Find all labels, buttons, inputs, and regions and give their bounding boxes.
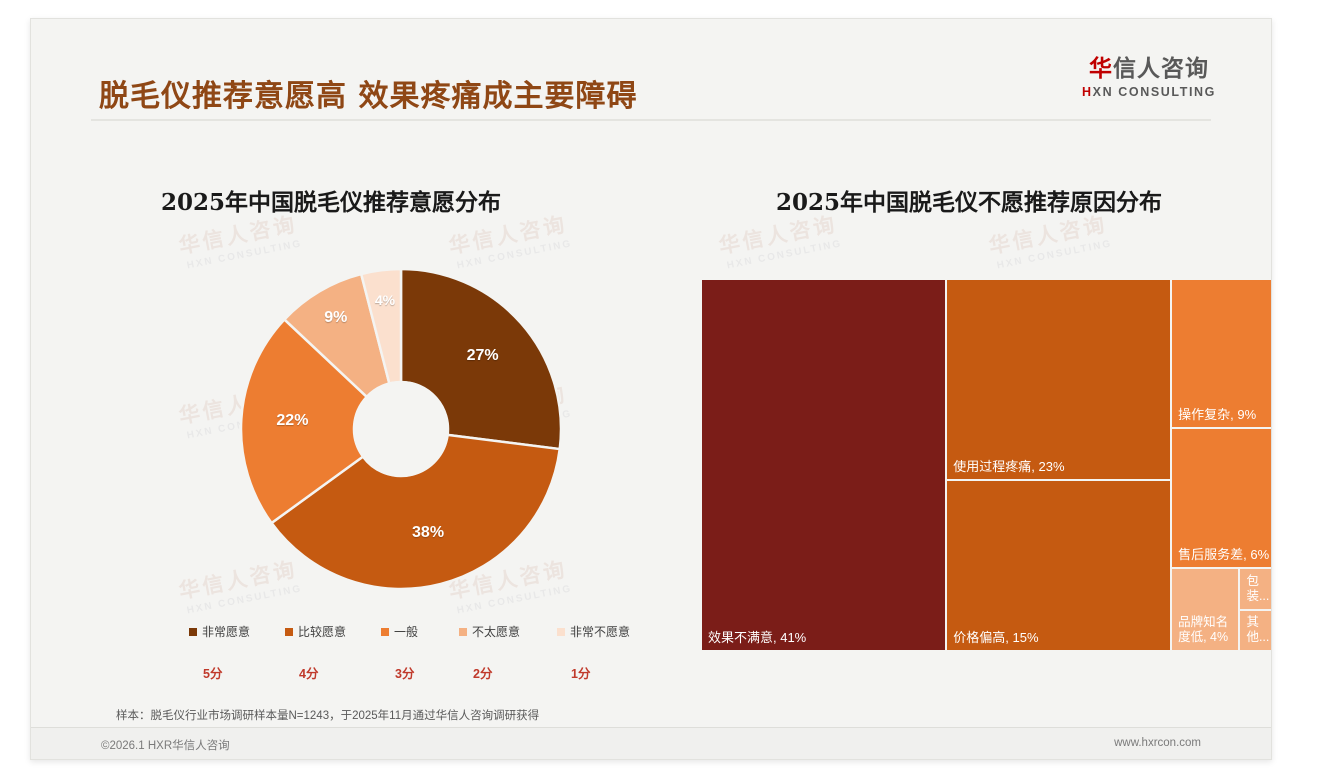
legend-item[interactable]: 一般 — [381, 623, 418, 640]
treemap-tile-label: 包装... — [1246, 574, 1272, 605]
slide-canvas: 华信人咨询 HXN CONSULTING 华信人咨询 HXN CONSULTIN… — [30, 18, 1272, 760]
treemap-tile[interactable]: 价格偏高, 15% — [946, 480, 1171, 651]
sample-footnote: 样本：脱毛仪行业市场调研样本量N=1243，于2025年11月通过华信人咨询调研… — [116, 707, 539, 723]
legend-swatch-icon — [459, 628, 467, 636]
legend-swatch-icon — [285, 628, 293, 636]
donut-legend: 非常愿意比较愿意一般不太愿意非常不愿意 — [189, 623, 629, 643]
slide-footer: ©2026.1 HXR华信人咨询 www.hxrcon.com — [31, 728, 1271, 759]
donut-hole — [353, 381, 449, 477]
treemap-tile[interactable]: 品牌知名度低, 4% — [1171, 568, 1239, 651]
watermark-en: HXN CONSULTING — [726, 238, 843, 271]
treemap-tile-label: 效果不满意, 41% — [708, 630, 806, 646]
logo-hua-char: 华 — [1089, 56, 1113, 82]
footer-website: www.hxrcon.com — [1114, 737, 1201, 749]
logo-en-rest: XN CONSULTING — [1093, 85, 1216, 99]
treemap-tile-label: 品牌知名度低, 4% — [1178, 615, 1234, 646]
legend-swatch-icon — [381, 628, 389, 636]
legend-label: 一般 — [394, 623, 418, 640]
treemap-tile[interactable]: 使用过程疼痛, 23% — [946, 279, 1171, 480]
legend-score: 3分 — [395, 663, 414, 682]
logo-cn-rest: 信人咨询 — [1113, 56, 1209, 82]
footer-copyright: ©2026.1 HXR华信人咨询 — [101, 737, 230, 753]
treemap-tile-label: 使用过程疼痛, 23% — [953, 459, 1064, 475]
legend-score: 5分 — [203, 663, 222, 682]
legend-score: 2分 — [473, 663, 492, 682]
legend-item[interactable]: 非常愿意 — [189, 623, 250, 640]
legend-score: 1分 — [571, 663, 590, 682]
treemap-tile-label: 操作复杂, 9% — [1178, 407, 1256, 423]
logo-english: HXN CONSULTING — [1082, 85, 1216, 99]
treemap-tile-label: 其他... — [1246, 615, 1272, 646]
legend-label: 不太愿意 — [472, 623, 520, 640]
legend-swatch-icon — [557, 628, 565, 636]
left-chart-title: 2025年中国脱毛仪推荐意愿分布 — [161, 183, 501, 217]
treemap-chart: 效果不满意, 41%使用过程疼痛, 23%价格偏高, 15%操作复杂, 9%售后… — [701, 279, 1272, 651]
treemap-tile[interactable]: 售后服务差, 6% — [1171, 428, 1272, 569]
watermark-en: HXN CONSULTING — [996, 238, 1113, 271]
watermark: 华信人咨询 HXN CONSULTING — [716, 208, 843, 272]
slide-header: 脱毛仪推荐意愿高 效果疼痛成主要障碍 华信人咨询 HXN CONSULTING — [31, 19, 1271, 119]
watermark: 华信人咨询 HXN CONSULTING — [446, 208, 573, 272]
treemap-tile-label: 售后服务差, 6% — [1178, 547, 1269, 563]
legend-item[interactable]: 非常不愿意 — [557, 623, 630, 640]
donut-chart: 27%38%22%9%4% — [236, 264, 566, 594]
legend-item[interactable]: 不太愿意 — [459, 623, 520, 640]
header-divider — [91, 119, 1211, 121]
legend-swatch-icon — [189, 628, 197, 636]
donut-score-row: 5分4分3分2分1分 — [189, 663, 629, 681]
treemap-tile[interactable]: 其他... — [1239, 610, 1272, 651]
legend-label: 非常愿意 — [202, 623, 250, 640]
company-logo: 华信人咨询 HXN CONSULTING — [1082, 57, 1216, 99]
watermark: 华信人咨询 HXN CONSULTING — [986, 208, 1113, 272]
legend-item[interactable]: 比较愿意 — [285, 623, 346, 640]
right-chart-title: 2025年中国脱毛仪不愿推荐原因分布 — [776, 183, 1162, 217]
page-title: 脱毛仪推荐意愿高 效果疼痛成主要障碍 — [99, 71, 637, 115]
treemap-tile-label: 价格偏高, 15% — [953, 630, 1038, 646]
treemap-tile[interactable]: 效果不满意, 41% — [701, 279, 946, 651]
logo-h-char: H — [1082, 85, 1093, 99]
donut-chart-svg — [236, 264, 566, 594]
legend-score: 4分 — [299, 663, 318, 682]
legend-label: 比较愿意 — [298, 623, 346, 640]
legend-label: 非常不愿意 — [570, 623, 630, 640]
treemap-tile[interactable]: 操作复杂, 9% — [1171, 279, 1272, 428]
treemap-tile[interactable]: 包装... — [1239, 568, 1272, 610]
logo-chinese: 华信人咨询 — [1082, 57, 1216, 82]
watermark: 华信人咨询 HXN CONSULTING — [176, 208, 303, 272]
